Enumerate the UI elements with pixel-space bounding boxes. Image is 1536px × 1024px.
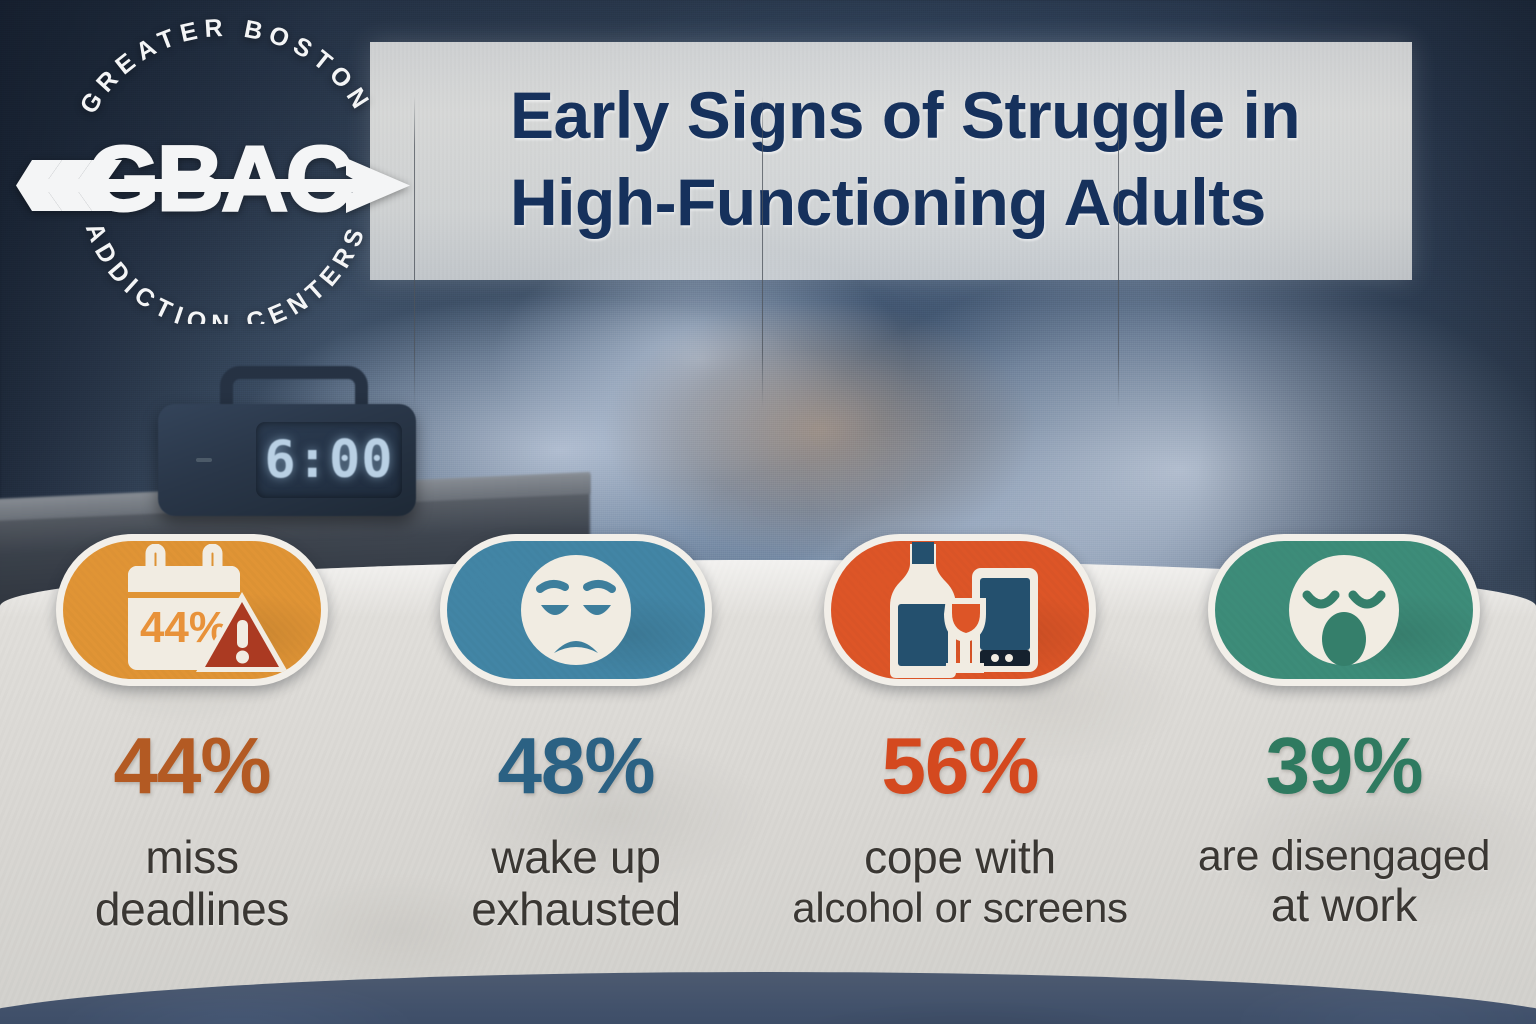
yawning-face-icon (1208, 534, 1480, 686)
stat-label: cope with alcohol or screens (792, 832, 1127, 931)
page-title-line1: Early Signs of Struggle in (510, 78, 1300, 152)
column-divider-1 (414, 96, 415, 408)
page-title-line2: High-Functioning Adults (510, 159, 1380, 246)
stat-column-miss-deadlines: 44% 44% miss deadlines (0, 534, 384, 954)
stat-percent: 56% (881, 726, 1038, 806)
alarm-clock-icon: 6:00 (158, 398, 416, 516)
stat-label-line1: wake up (471, 832, 681, 884)
stat-label-line2: exhausted (471, 884, 681, 936)
stat-percent: 48% (497, 726, 654, 806)
svg-text:ADDICTION CENTERS: ADDICTION CENTERS (80, 219, 373, 324)
stats-row: 44% 44% miss deadlines (0, 534, 1536, 954)
stat-label: are disengaged at work (1198, 832, 1490, 932)
infographic-canvas: 6:00 Early Signs of Struggle in High-Fun… (0, 0, 1536, 1024)
column-divider-3 (1118, 96, 1119, 408)
stat-percent: 44% (113, 726, 270, 806)
stat-label-line1: miss (95, 832, 289, 884)
bottle-glass-phone-icon (824, 534, 1096, 686)
svg-text:GREATER BOSTON: GREATER BOSTON (74, 14, 377, 119)
stat-percent: 39% (1265, 726, 1422, 806)
calendar-warning-icon: 44% (56, 534, 328, 686)
stat-label: miss deadlines (95, 832, 289, 935)
stat-label-line2: deadlines (95, 884, 289, 936)
alarm-clock-time: 6:00 (256, 422, 402, 498)
column-divider-2 (762, 96, 763, 408)
stat-label: wake up exhausted (471, 832, 681, 935)
stat-label-line1: are disengaged (1198, 832, 1490, 880)
stat-column-are-disengaged-at-work: 39% are disengaged at work (1152, 534, 1536, 954)
page-title: Early Signs of Struggle in High-Function… (510, 72, 1380, 246)
alarm-clock-led (196, 458, 212, 462)
stat-label-line2: alcohol or screens (792, 884, 1127, 931)
tired-face-icon (440, 534, 712, 686)
gbac-logo: GREATER BOSTON ADDICTION CENTERS GBAC (14, 14, 434, 324)
svg-text:GBAC: GBAC (88, 128, 351, 230)
stat-label-line1: cope with (792, 832, 1127, 884)
stat-label-line2: at work (1198, 880, 1490, 932)
stat-column-wake-up-exhausted: 48% wake up exhausted (384, 534, 768, 954)
stat-column-cope-with-alcohol-or-screens: 56% cope with alcohol or screens (768, 534, 1152, 954)
